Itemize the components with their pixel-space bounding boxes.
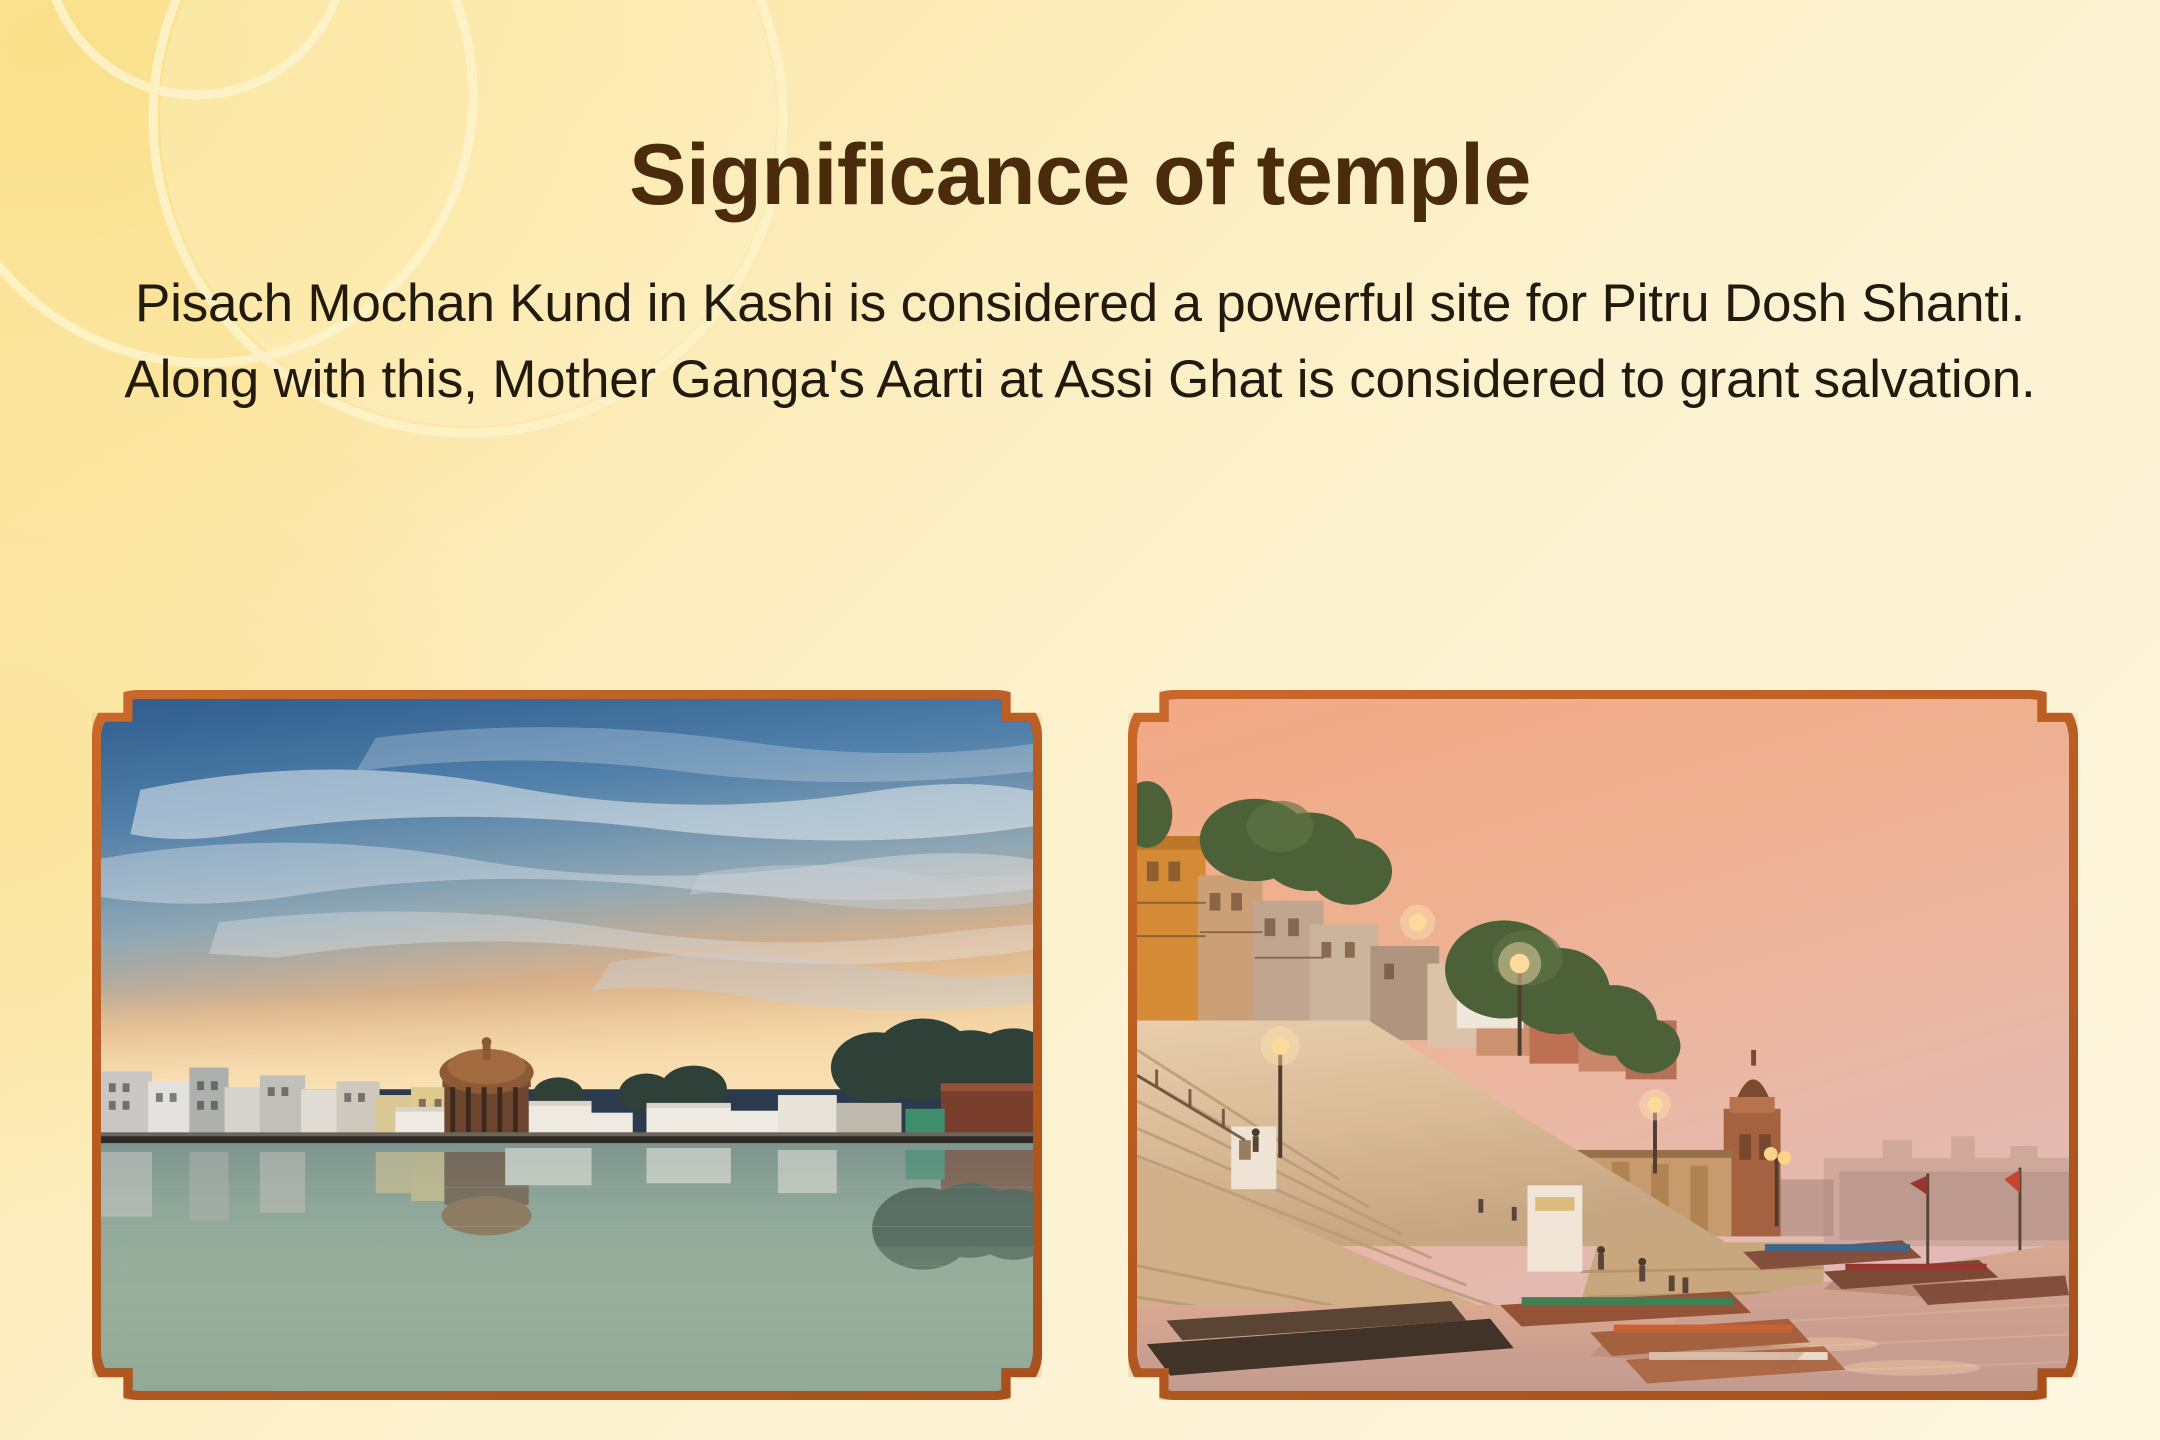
text-block: Significance of temple Pisach Mochan Kun… — [0, 0, 2160, 417]
body-paragraph: Pisach Mochan Kund in Kashi is considere… — [85, 266, 2075, 417]
image-gallery — [0, 690, 2160, 1410]
image-frame-kund[interactable] — [92, 690, 1042, 1400]
image-frame-inner — [1137, 699, 2069, 1391]
assi-ghat-photo — [1137, 699, 2069, 1391]
pisach-mochan-kund-photo — [101, 699, 1033, 1391]
image-frame-ghat[interactable] — [1128, 690, 2078, 1400]
slide-canvas: Significance of temple Pisach Mochan Kun… — [0, 0, 2160, 1440]
page-title: Significance of temple — [0, 130, 2160, 220]
image-frame-inner — [101, 699, 1033, 1391]
